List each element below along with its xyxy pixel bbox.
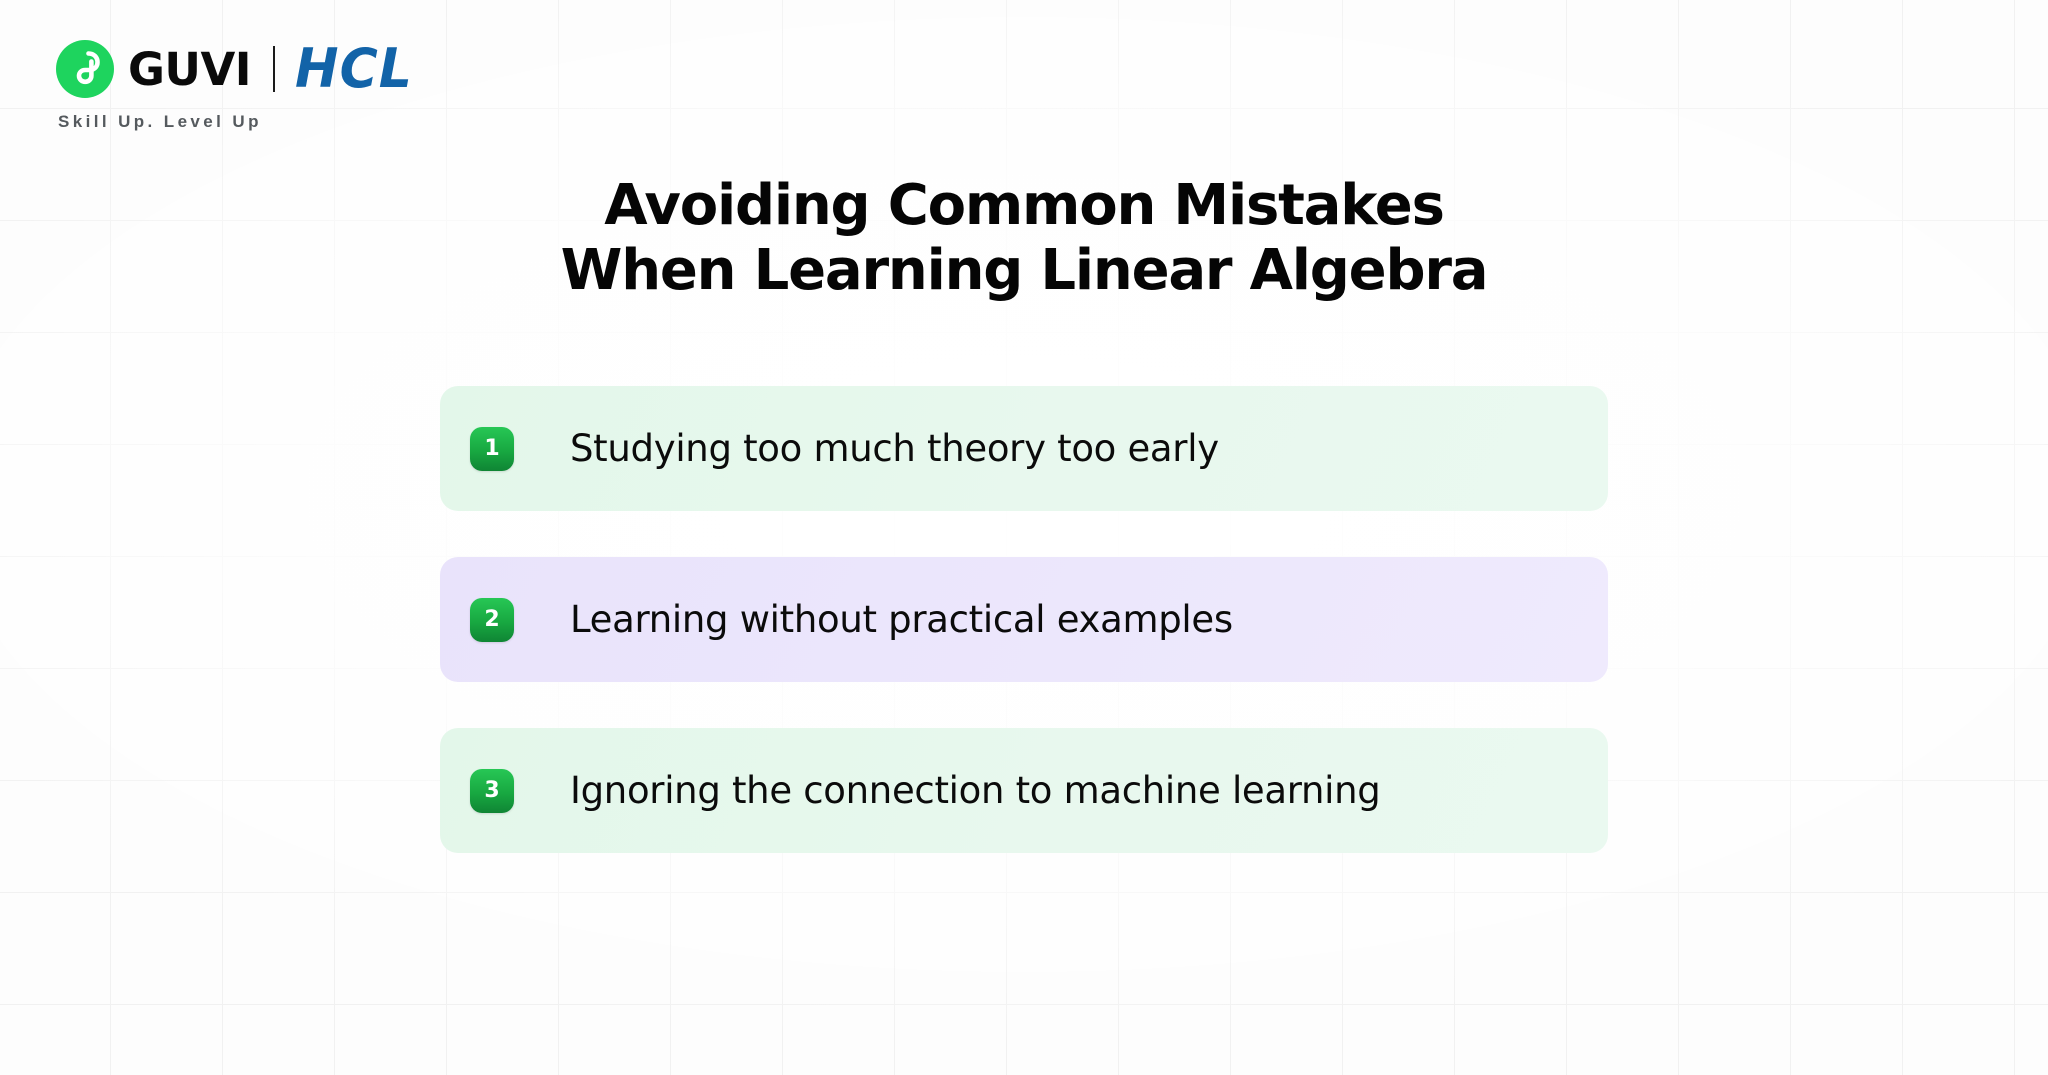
slide-canvas: GUVI HCL Skill Up. Level Up Avoiding Com…	[0, 0, 2048, 1075]
guvi-wordmark: GUVI	[128, 47, 251, 92]
list-item[interactable]: 3 Ignoring the connection to machine lea…	[440, 728, 1608, 853]
brand-tagline: Skill Up. Level Up	[58, 112, 413, 132]
brand-logos-row: GUVI HCL	[56, 38, 413, 100]
page-title-line-1: Avoiding Common Mistakes	[0, 173, 2048, 239]
list-item-label: Learning without practical examples	[570, 598, 1233, 641]
list-item-label: Ignoring the connection to machine learn…	[570, 769, 1381, 812]
hcl-wordmark: HCL	[295, 42, 413, 97]
guvi-logo-icon	[56, 40, 114, 98]
mistakes-list: 1 Studying too much theory too early 2 L…	[440, 386, 1608, 853]
list-item[interactable]: 2 Learning without practical examples	[440, 557, 1608, 682]
page-title: Avoiding Common Mistakes When Learning L…	[0, 173, 2048, 304]
brand-divider	[273, 46, 275, 92]
item-number-badge: 2	[470, 598, 514, 642]
brand-lockup: GUVI HCL Skill Up. Level Up	[56, 38, 413, 132]
item-number-badge: 3	[470, 769, 514, 813]
list-item-label: Studying too much theory too early	[570, 427, 1219, 470]
page-title-line-2: When Learning Linear Algebra	[0, 238, 2048, 304]
list-item[interactable]: 1 Studying too much theory too early	[440, 386, 1608, 511]
item-number-badge: 1	[470, 427, 514, 471]
